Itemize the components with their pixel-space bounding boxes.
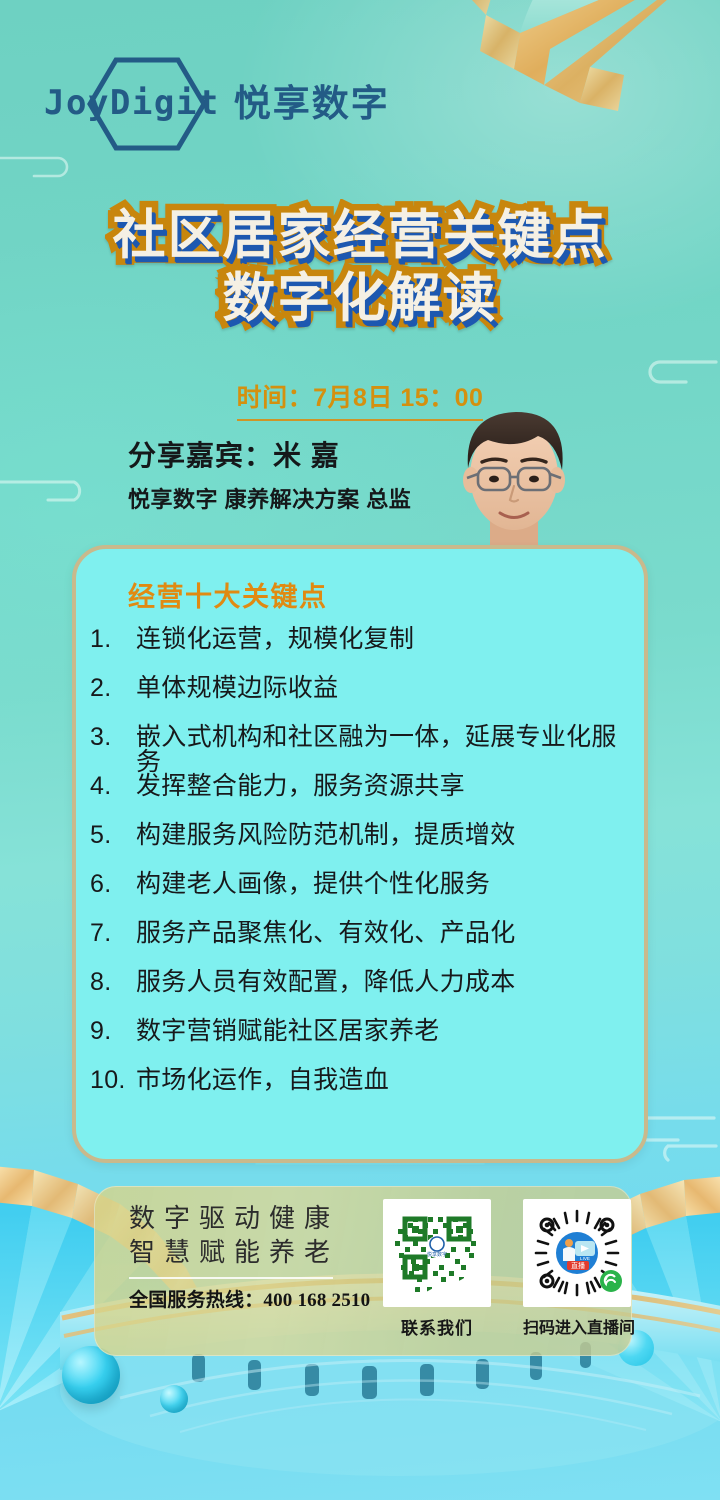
- svg-text:悦享数字: 悦享数字: [427, 1251, 447, 1258]
- key-point-number: 9.: [86, 1019, 136, 1044]
- footer-panel: 数字驱动健康 智慧赋能养老 全国服务热线：400 168 2510: [94, 1186, 632, 1356]
- brand-logo-cn: 悦享数字: [234, 85, 390, 122]
- key-point-item: 2.单体规模边际收益: [86, 676, 634, 725]
- service-hotline: 全国服务热线：400 168 2510: [129, 1285, 373, 1312]
- key-point-text: 服务人员有效配置，降低人力成本: [136, 970, 634, 995]
- key-point-text: 构建服务风险防范机制，提质增效: [136, 823, 634, 848]
- key-point-text: 连锁化运营，规模化复制: [136, 627, 634, 652]
- key-point-number: 2.: [86, 676, 136, 701]
- key-points-card: 经营十大关键点 1.连锁化运营，规模化复制2.单体规模边际收益3.嵌入式机构和社…: [72, 545, 648, 1163]
- slogan-line-1: 数字驱动健康: [129, 1201, 373, 1235]
- svg-text:LIVE: LIVE: [580, 1256, 590, 1261]
- title-line-1: 社区居家经营关键点: [0, 206, 720, 265]
- key-point-text: 服务产品聚焦化、有效化、产品化: [136, 921, 634, 946]
- poster-title: 社区居家经营关键点 数字化解读: [0, 206, 720, 329]
- key-points-list: 1.连锁化运营，规模化复制2.单体规模边际收益3.嵌入式机构和社区融为一体，延展…: [86, 627, 634, 1117]
- key-point-text: 发挥整合能力，服务资源共享: [136, 774, 634, 799]
- speaker-role: 悦享数字 康养解决方案 总监: [128, 486, 411, 515]
- key-point-number: 3.: [86, 725, 136, 750]
- svg-text:直播: 直播: [571, 1261, 585, 1270]
- key-point-item: 1.连锁化运营，规模化复制: [86, 627, 634, 676]
- decorative-cloud-line-left-2: [0, 150, 90, 180]
- key-point-number: 5.: [86, 823, 136, 848]
- speaker-info: 分享嘉宾：米 嘉 悦享数字 康养解决方案 总监: [128, 438, 411, 515]
- key-point-number: 4.: [86, 774, 136, 799]
- key-point-number: 10.: [86, 1068, 136, 1093]
- key-point-text: 构建老人画像，提供个性化服务: [136, 872, 634, 897]
- key-point-number: 6.: [86, 872, 136, 897]
- key-point-number: 1.: [86, 627, 136, 652]
- qr-item-live[interactable]: LIVE 直播 扫码进入直播间: [523, 1199, 631, 1339]
- key-point-item: 10.市场化运作，自我造血: [86, 1068, 634, 1117]
- title-line-2: 数字化解读: [0, 269, 720, 328]
- decorative-sphere-small: [160, 1385, 188, 1413]
- footer-slogan: 数字驱动健康 智慧赋能养老 全国服务热线：400 168 2510: [95, 1187, 373, 1312]
- key-point-item: 5.构建服务风险防范机制，提质增效: [86, 823, 634, 872]
- key-points-heading: 经营十大关键点: [128, 575, 328, 614]
- decorative-cloud-line-left: [0, 470, 110, 504]
- key-point-item: 3.嵌入式机构和社区融为一体，延展专业化服务: [86, 725, 634, 774]
- contact-qr-code-icon[interactable]: 悦享数字: [383, 1199, 491, 1307]
- key-point-item: 4.发挥整合能力，服务资源共享: [86, 774, 634, 823]
- speaker-name: 分享嘉宾：米 嘉: [128, 438, 411, 474]
- qr-code-group: 悦享数字 联系我们: [383, 1187, 631, 1339]
- live-room-qr-code-icon[interactable]: LIVE 直播: [523, 1199, 631, 1307]
- key-point-number: 7.: [86, 921, 136, 946]
- key-point-number: 8.: [86, 970, 136, 995]
- key-point-item: 9.数字营销赋能社区居家养老: [86, 1019, 634, 1068]
- poster-root: JoyDigit 悦享数字 社区居家经营关键点 数字化解读 时间：7月8日 15…: [0, 0, 720, 1500]
- qr-item-contact[interactable]: 悦享数字 联系我们: [383, 1199, 491, 1339]
- key-point-text: 单体规模边际收益: [136, 676, 634, 701]
- brand-logo-en: JoyDigit: [44, 86, 220, 120]
- key-point-item: 6.构建老人画像，提供个性化服务: [86, 872, 634, 921]
- key-point-text: 市场化运作，自我造血: [136, 1068, 634, 1093]
- slogan-line-2: 智慧赋能养老: [129, 1235, 373, 1269]
- qr-label-live: 扫码进入直播间: [523, 1314, 631, 1338]
- decorative-fan-top-right: [430, 0, 720, 210]
- slogan-divider: [129, 1277, 333, 1279]
- key-point-text: 嵌入式机构和社区融为一体，延展专业化服务: [136, 725, 634, 775]
- key-point-text: 数字营销赋能社区居家养老: [136, 1019, 634, 1044]
- key-point-item: 8.服务人员有效配置，降低人力成本: [86, 970, 634, 1019]
- brand-logo[interactable]: JoyDigit 悦享数字: [44, 72, 390, 134]
- qr-label-contact: 联系我们: [383, 1314, 491, 1339]
- key-point-item: 7.服务产品聚焦化、有效化、产品化: [86, 921, 634, 970]
